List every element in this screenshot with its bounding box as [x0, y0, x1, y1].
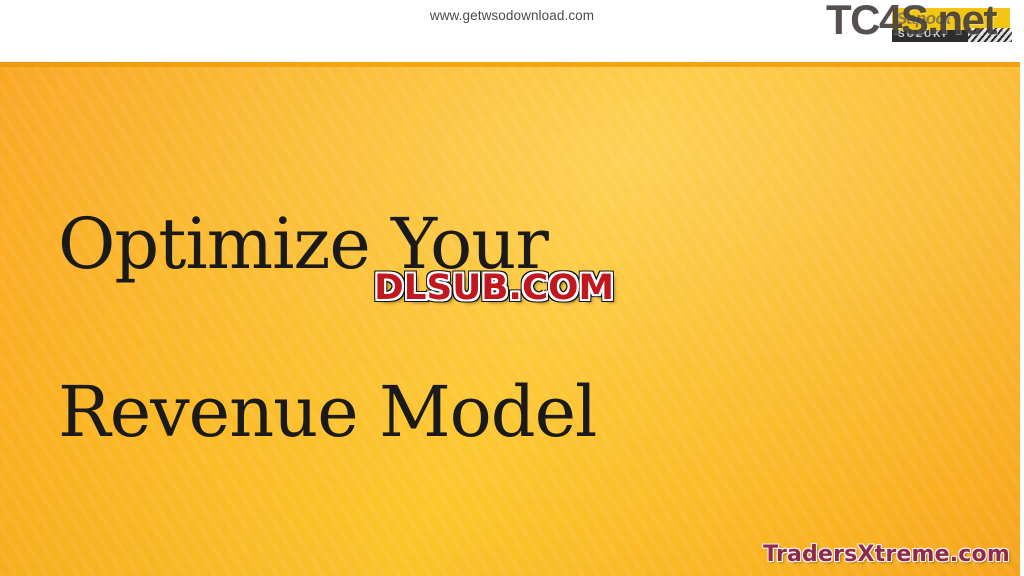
slide-title-line-2: Revenue Model [58, 370, 958, 454]
slide-subtitle: How to Structure Your Business for Maxim… [58, 570, 958, 576]
presentation-slide: www.getwsodownload.com Sapoot SUZUKI TC4… [0, 0, 1024, 576]
slide-content: Optimize Your Revenue Model How to Struc… [58, 62, 958, 576]
tc4s-watermark-text: TC4S.net [826, 0, 996, 44]
tc4s-watermark: Sapoot SUZUKI TC4S.net [822, 0, 1022, 52]
right-edge-sliver [1020, 62, 1024, 576]
dlsub-watermark: DLSUB.COM [368, 266, 620, 310]
tradersxtreme-watermark: TradersXtreme.com [763, 542, 1010, 567]
slide-subtitle-wrap: How to Structure Your Business for Maxim… [58, 570, 958, 576]
